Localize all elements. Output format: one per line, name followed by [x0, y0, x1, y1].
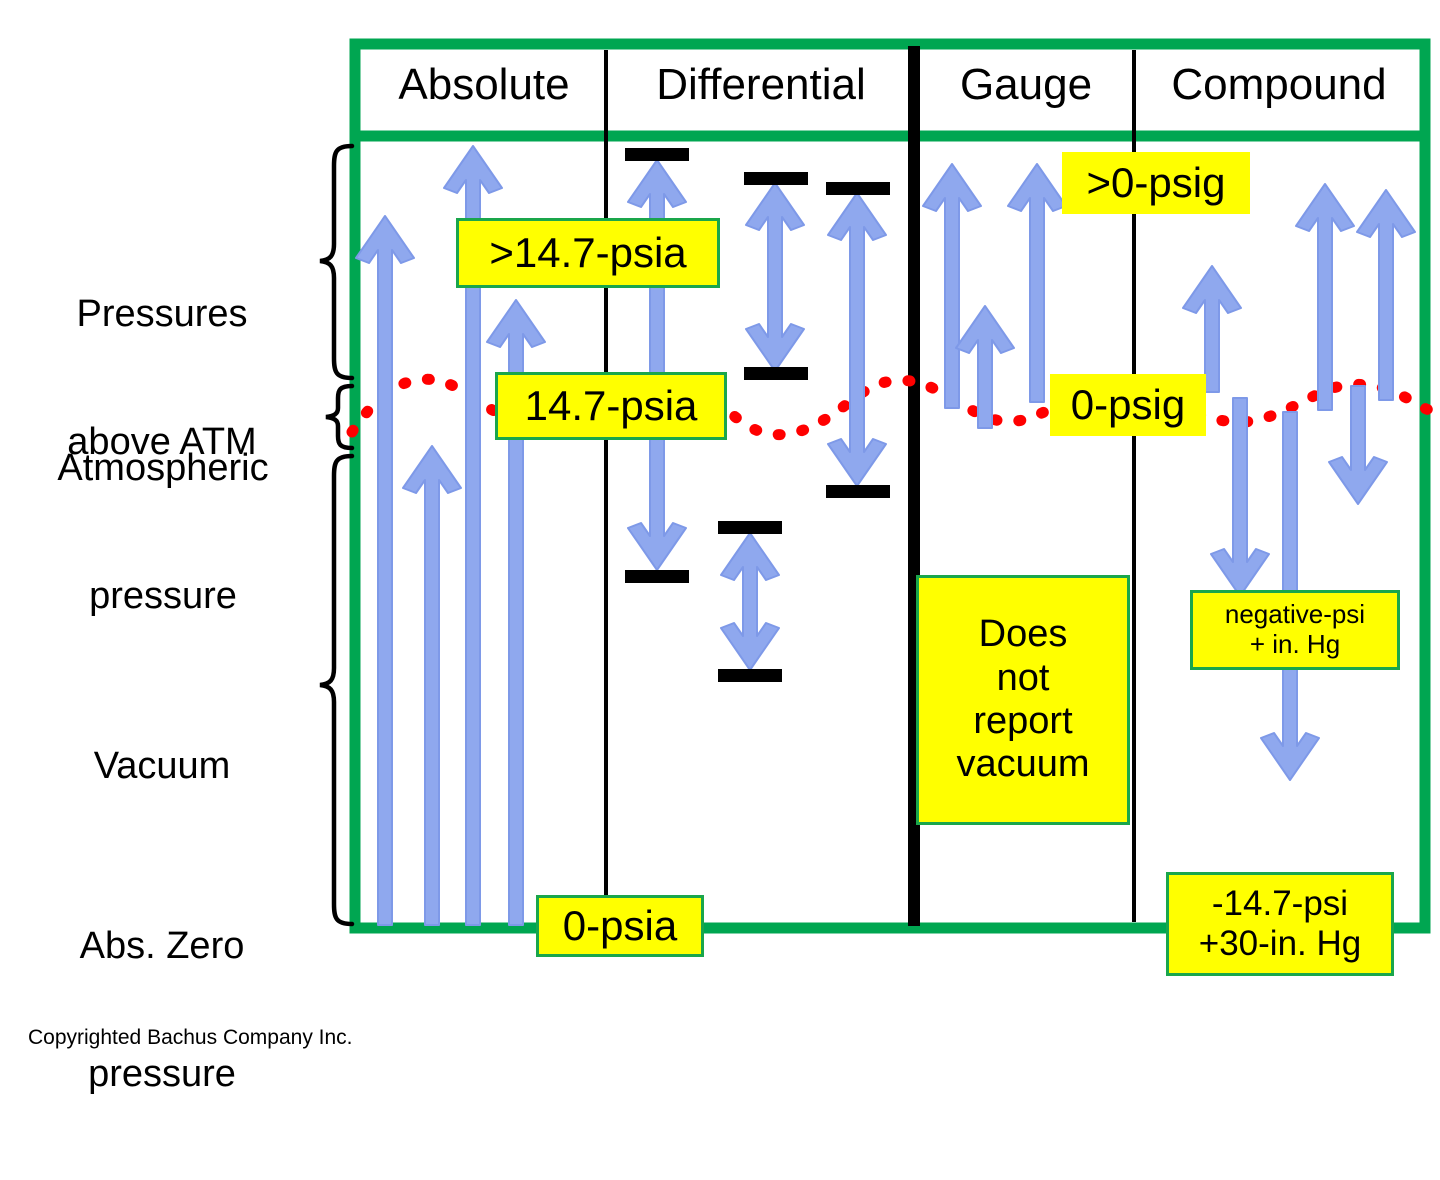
callout-does-not-report-vacuum: Does not report vacuum	[916, 575, 1130, 825]
scale-label-line2: pressure	[8, 575, 318, 618]
gauge-arrow-2	[956, 306, 1014, 428]
callout-0-psig: 0-psig	[1050, 374, 1206, 436]
callout-line-2: not	[997, 657, 1050, 700]
compound-down-arrow-3	[1329, 386, 1387, 504]
scale-label-line1: Vacuum	[12, 745, 312, 788]
callout-line-1: negative-psi	[1225, 600, 1365, 630]
scale-label-line1: Atmospheric	[8, 447, 318, 490]
scale-braces	[320, 146, 352, 924]
compound-column-arrows	[1183, 184, 1415, 780]
brace-vacuum	[320, 456, 352, 924]
scale-label-line2: pressure	[12, 1053, 312, 1096]
callout-line-4: vacuum	[956, 743, 1089, 786]
compound-up-arrow-3	[1357, 190, 1415, 400]
callout-minus-14-7-psi-30-in-hg: -14.7-psi +30-in. Hg	[1166, 872, 1394, 976]
differential-arrow-4	[721, 533, 779, 670]
callout-line-1: -14.7-psi	[1212, 884, 1348, 924]
scale-label-line1: Abs. Zero	[12, 925, 312, 968]
scale-label-atmospheric-pressure: Atmospheric pressure	[8, 362, 318, 702]
compound-down-arrow-1	[1211, 398, 1269, 596]
callout-line-3: report	[973, 700, 1072, 743]
callout-0-psia: 0-psia	[536, 895, 704, 957]
callout-above-14-7-psia: >14.7-psia	[456, 218, 720, 288]
gauge-column-arrows	[923, 164, 1066, 428]
differential-arrow-2	[746, 183, 804, 371]
absolute-arrow-2	[403, 446, 461, 925]
callout-line-2: + in. Hg	[1250, 630, 1340, 660]
absolute-arrow-1	[356, 216, 414, 925]
gauge-arrow-3	[1008, 164, 1066, 402]
compound-up-arrow-2	[1296, 184, 1354, 410]
pressure-diagram: Absolute Differential Gauge Compound Pre…	[0, 0, 1440, 1080]
column-header-differential: Differential	[612, 60, 910, 109]
column-header-absolute: Absolute	[368, 60, 600, 109]
copyright-notice: Copyrighted Bachus Company Inc.	[28, 1026, 628, 1050]
scale-label-line1: Pressures	[12, 293, 312, 336]
scale-label-abs-zero-pressure: Abs. Zero pressure	[12, 840, 312, 1180]
callout-negative-psi-in-hg: negative-psi + in. Hg	[1190, 590, 1400, 670]
callout-above-0-psig: >0-psig	[1062, 152, 1250, 214]
callout-line-1: Does	[979, 613, 1068, 656]
callout-14-7-psia: 14.7-psia	[495, 372, 727, 440]
brace-atmospheric-pressure	[326, 386, 352, 448]
brace-pressures-above-atm	[320, 146, 352, 378]
gauge-arrow-1	[923, 164, 981, 408]
callout-line-2: +30-in. Hg	[1199, 924, 1361, 964]
differential-arrow-3	[828, 193, 886, 486]
column-header-compound: Compound	[1140, 60, 1418, 109]
column-header-gauge: Gauge	[922, 60, 1130, 109]
